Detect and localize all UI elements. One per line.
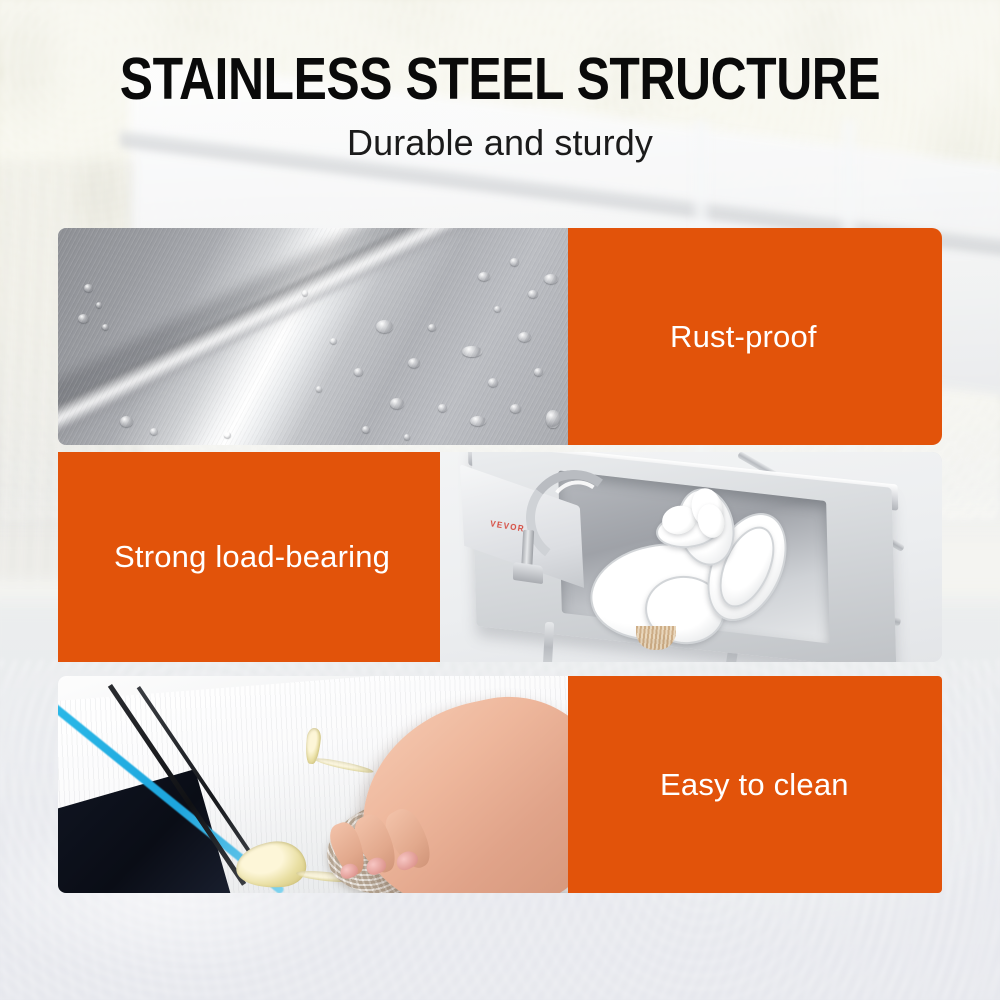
header-block: STAINLESS STEEL STRUCTURE Durable and st…: [0, 0, 1000, 163]
feature-label-easy-to-clean: Easy to clean: [660, 767, 849, 803]
feature-label-rust-proof: Rust-proof: [670, 319, 817, 355]
feature-label-panel-easy-to-clean: Easy to clean: [568, 676, 942, 893]
feature-label-strong-load-bearing: Strong load-bearing: [114, 539, 390, 575]
steel-brush-grain: [58, 228, 568, 445]
feature-label-panel-strong-load-bearing: Strong load-bearing: [58, 452, 440, 662]
feature-photo-water-droplets: [58, 228, 568, 445]
feature-row-rust-proof: Rust-proof: [58, 228, 942, 445]
feature-row-strong-load-bearing: Strong load-bearing VEVOR: [58, 452, 942, 662]
feature-photo-wiping-counter: [58, 676, 568, 893]
feature-label-panel-rust-proof: Rust-proof: [568, 228, 942, 445]
page-title: STAINLESS STEEL STRUCTURE: [78, 0, 923, 110]
feature-photo-sink-with-dishes: VEVOR: [440, 452, 942, 662]
page-subtitle: Durable and sturdy: [0, 110, 1000, 163]
feature-row-easy-to-clean: Easy to clean: [58, 676, 942, 893]
